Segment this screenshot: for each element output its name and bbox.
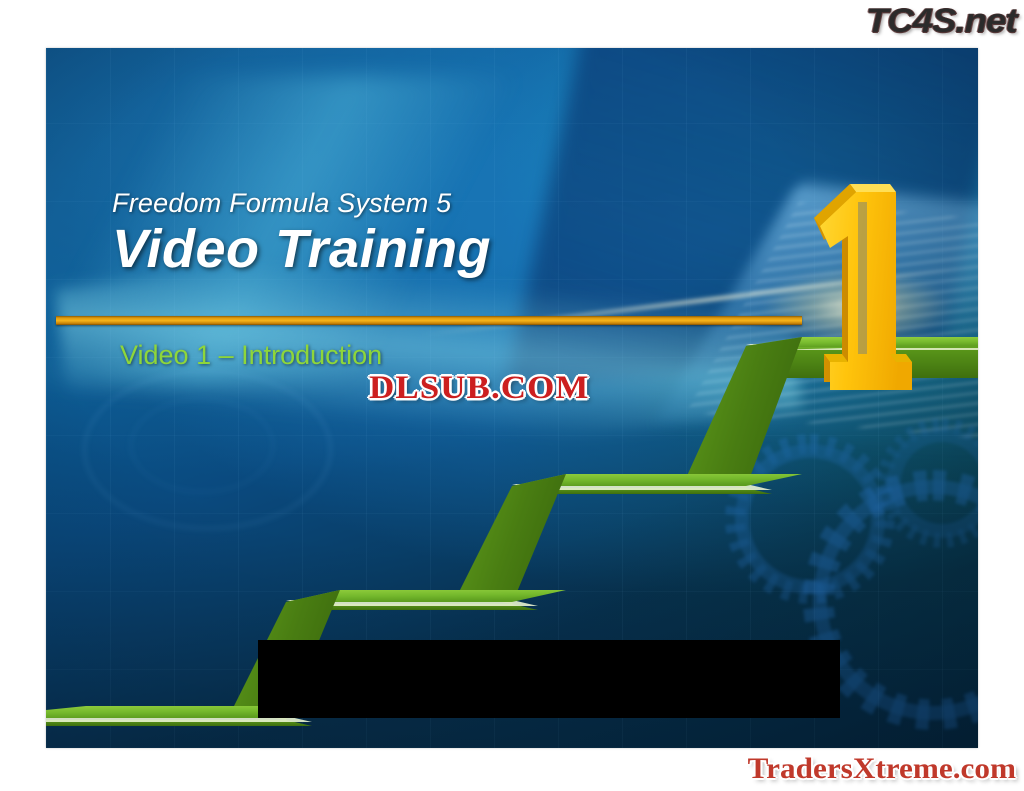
site-watermark-overlay: DLSUB.COM — [369, 370, 589, 407]
title-block: Freedom Formula System 5 Video Training — [112, 188, 872, 278]
presentation-slide: Freedom Formula System 5 Video Training … — [46, 48, 978, 748]
title-divider-rule — [56, 316, 802, 325]
slide-subtitle: Video 1 – Introduction — [120, 340, 382, 371]
slide-eyebrow-text: Freedom Formula System 5 — [112, 188, 872, 219]
site-watermark-bottom: TradersXtreme.com — [748, 752, 1016, 786]
slide-title: Video Training — [112, 221, 872, 278]
site-watermark-top: TC4S.net — [865, 2, 1016, 41]
redaction-bar — [258, 640, 840, 718]
